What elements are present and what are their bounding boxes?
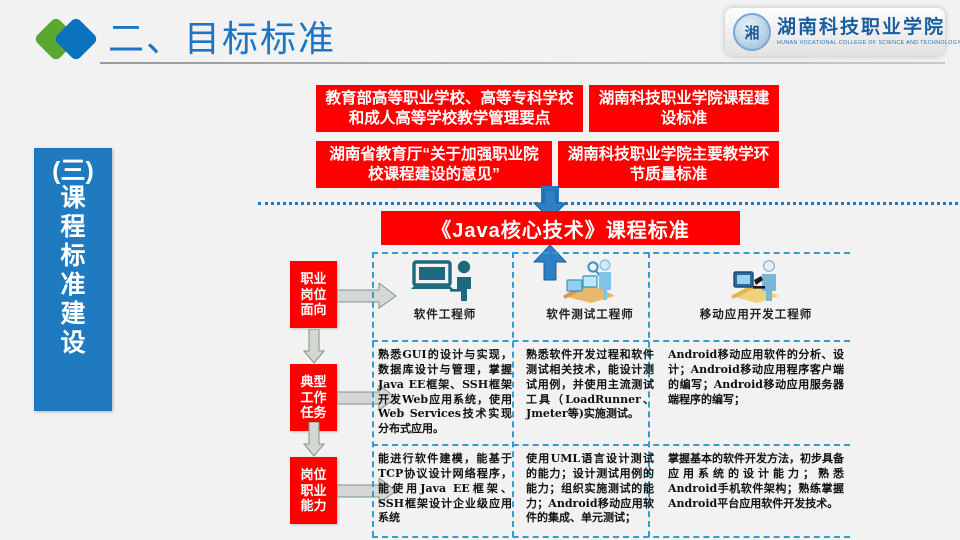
section-sidebar: (三) 课 程 标 准 建 设 [34, 148, 112, 411]
sidebar-char-3: 准 [60, 271, 85, 300]
stage-box-3: 岗位 职业 能力 [290, 457, 337, 524]
role-cell-3: 移动应用开发工程师 [662, 256, 850, 340]
role-label-2: 软件测试工程师 [546, 306, 634, 322]
competency-matrix: 软件工程师 熟悉GUI的设计与实现，数据库设计与管理，掌握Java EE框架、S… [372, 252, 850, 537]
role-cell-1: 软件工程师 [372, 256, 518, 340]
ability-text-3: 掌握基本的软件开发方法，初步具备应用系统的设计能力；熟悉Android手机软件架… [668, 452, 844, 511]
stage-3-line-1: 职业 [300, 483, 326, 499]
policy-box-3: 湖南省教育厅“关于加强职业院校课程建设的意见” [316, 141, 552, 188]
diamond-logo-icon [40, 18, 98, 60]
ability-text-1: 能进行软件建模，能基于TCP协议设计网络程序，能使用Java EE框架、SSH框… [378, 452, 512, 526]
school-name-cn: 湖南科技职业学院 [777, 18, 960, 38]
task-text-1: 熟悉GUI的设计与实现，数据库设计与管理，掌握Java EE框架、SSH框架开发… [378, 348, 512, 437]
ability-text-2: 使用UML语言设计测试的能力；设计测试用例的能力；组织实施测试的能力；Andro… [526, 452, 654, 526]
school-logo-text: 湖南科技职业学院 HUNAN VOCATIONAL COLLEGE OF SCI… [777, 18, 960, 47]
matrix-column-mobile-developer: 移动应用开发工程师 Android移动应用软件的分析、设计；Android移动应… [662, 252, 850, 537]
stage-2-line-2: 任务 [300, 405, 326, 421]
mobile-developer-icon [723, 256, 789, 304]
title-underline [100, 62, 945, 64]
policy-box-1: 教育部高等职业学校、高等专科学校和成人高等学校教学管理要点 [316, 85, 583, 132]
school-logo: 湘 湖南科技职业学院 HUNAN VOCATIONAL COLLEGE OF S… [725, 8, 945, 56]
slide-root: 二、目标标准 湘 湖南科技职业学院 HUNAN VOCATIONAL COLLE… [0, 0, 960, 540]
stage-2-line-0: 典型 [300, 374, 326, 390]
sidebar-char-2: 标 [60, 242, 85, 271]
stage-1-line-1: 岗位 [300, 287, 326, 303]
sidebar-char-1: 程 [60, 213, 85, 242]
stage-2-line-1: 工作 [300, 390, 326, 406]
stage-3-line-0: 岗位 [300, 467, 326, 483]
stage-1-line-2: 面向 [300, 302, 326, 318]
sidebar-number: (三) [52, 158, 94, 184]
stage-box-1: 职业 岗位 面向 [290, 261, 337, 328]
sidebar-char-5: 设 [60, 329, 85, 358]
policy-box-4: 湖南科技职业学院主要教学环节质量标准 [558, 141, 779, 188]
sidebar-char-0: 课 [60, 184, 85, 213]
laptop-engineer-icon [410, 256, 480, 304]
role-label-1: 软件工程师 [414, 306, 477, 322]
matrix-column-software-tester: 软件测试工程师 熟悉软件开发过程和软件测试相关技术，能设计测试用例，并使用主流测… [520, 252, 660, 537]
matrix-column-software-engineer: 软件工程师 熟悉GUI的设计与实现，数据库设计与管理，掌握Java EE框架、S… [372, 252, 518, 537]
stage-3-line-2: 能力 [300, 498, 326, 514]
stage-1-line-0: 职业 [300, 271, 326, 287]
page-title: 二、目标标准 [108, 10, 336, 62]
dotted-divider [258, 202, 958, 205]
school-name-en: HUNAN VOCATIONAL COLLEGE OF SCIENCE AND … [777, 40, 960, 46]
task-text-2: 熟悉软件开发过程和软件测试相关技术，能设计测试用例，并使用主流测试工具（Load… [526, 348, 654, 422]
sidebar-char-4: 建 [60, 300, 85, 329]
tester-workstation-icon [557, 256, 623, 304]
policy-box-2: 湖南科技职业学院课程建设标准 [589, 85, 779, 132]
school-seal-icon: 湘 [733, 13, 771, 51]
course-standard-banner: 《Java核心技术》课程标准 [381, 211, 740, 245]
arrow-down-icon-1 [303, 329, 325, 364]
role-cell-2: 软件测试工程师 [520, 256, 660, 340]
task-text-3: Android移动应用软件的分析、设计；Android移动应用程序客户端的编写；… [668, 348, 844, 407]
role-label-3: 移动应用开发工程师 [700, 306, 813, 322]
arrow-down-icon-2 [303, 422, 325, 457]
stage-box-2: 典型 工作 任务 [290, 364, 337, 431]
